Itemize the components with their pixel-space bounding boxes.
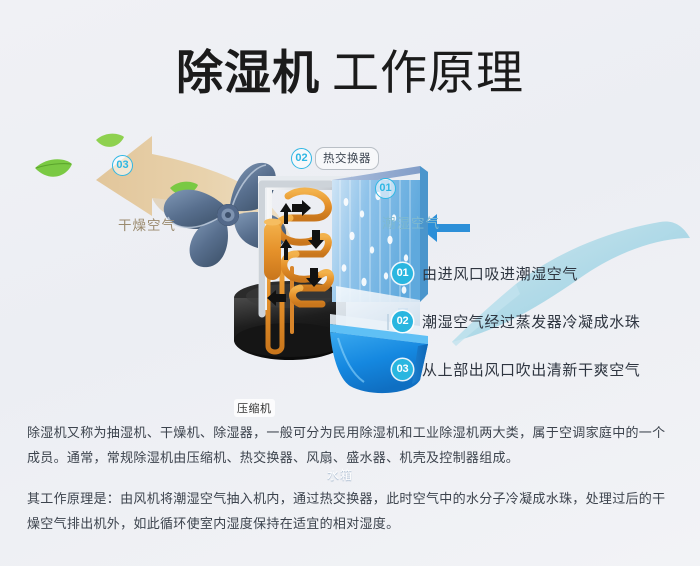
- step-label: 潮湿空气经过蒸发器冷凝成水珠: [422, 311, 640, 332]
- step-item: 03 从上部出风口吹出清新干爽空气: [392, 351, 692, 387]
- step-badge: 02: [392, 311, 413, 332]
- step-item: 02 潮湿空气经过蒸发器冷凝成水珠: [392, 303, 692, 339]
- dry-air-label: 干燥空气: [118, 214, 176, 234]
- compressor-label: 压缩机: [234, 399, 275, 417]
- paragraph-overview: 除湿机又称为抽湿机、干燥机、除湿器，一般可分为民用除湿机和工业除湿机两大类，属于…: [27, 420, 677, 470]
- step-list: 01 由进风口吸进潮湿空气 02 潮湿空气经过蒸发器冷凝成水珠 03 从上部出风…: [392, 255, 692, 399]
- step-item: 01 由进风口吸进潮湿空气: [392, 255, 692, 291]
- paragraph-spacer: [27, 470, 677, 486]
- description-block: 除湿机又称为抽湿机、干燥机、除湿器，一般可分为民用除湿机和工业除湿机两大类，属于…: [27, 420, 677, 536]
- humid-air-label: 潮湿空气: [382, 212, 440, 232]
- infographic-page: 除湿机工作原理: [0, 0, 700, 566]
- diagram-marker-02: 02: [291, 148, 312, 169]
- accumulator: [264, 222, 281, 280]
- step-badge: 03: [392, 359, 413, 380]
- title-part-primary: 除湿机: [176, 46, 320, 99]
- leaf-icon-1: [35, 159, 72, 176]
- heat-exchanger-callout: 热交换器: [315, 147, 379, 170]
- page-title: 除湿机工作原理: [0, 34, 700, 103]
- step-badge: 01: [392, 263, 413, 284]
- step-label: 从上部出风口吹出清新干爽空气: [422, 359, 640, 380]
- diagram-marker-03: 03: [112, 155, 133, 176]
- step-label: 由进风口吸进潮湿空气: [422, 263, 578, 284]
- title-part-secondary: 工作原理: [332, 46, 524, 99]
- paragraph-principle: 其工作原理是：由风机将潮湿空气抽入机内，通过热交换器，此时空气中的水分子冷凝成水…: [27, 486, 677, 536]
- leaf-icon-2: [96, 134, 124, 147]
- diagram-marker-01: 01: [375, 178, 396, 199]
